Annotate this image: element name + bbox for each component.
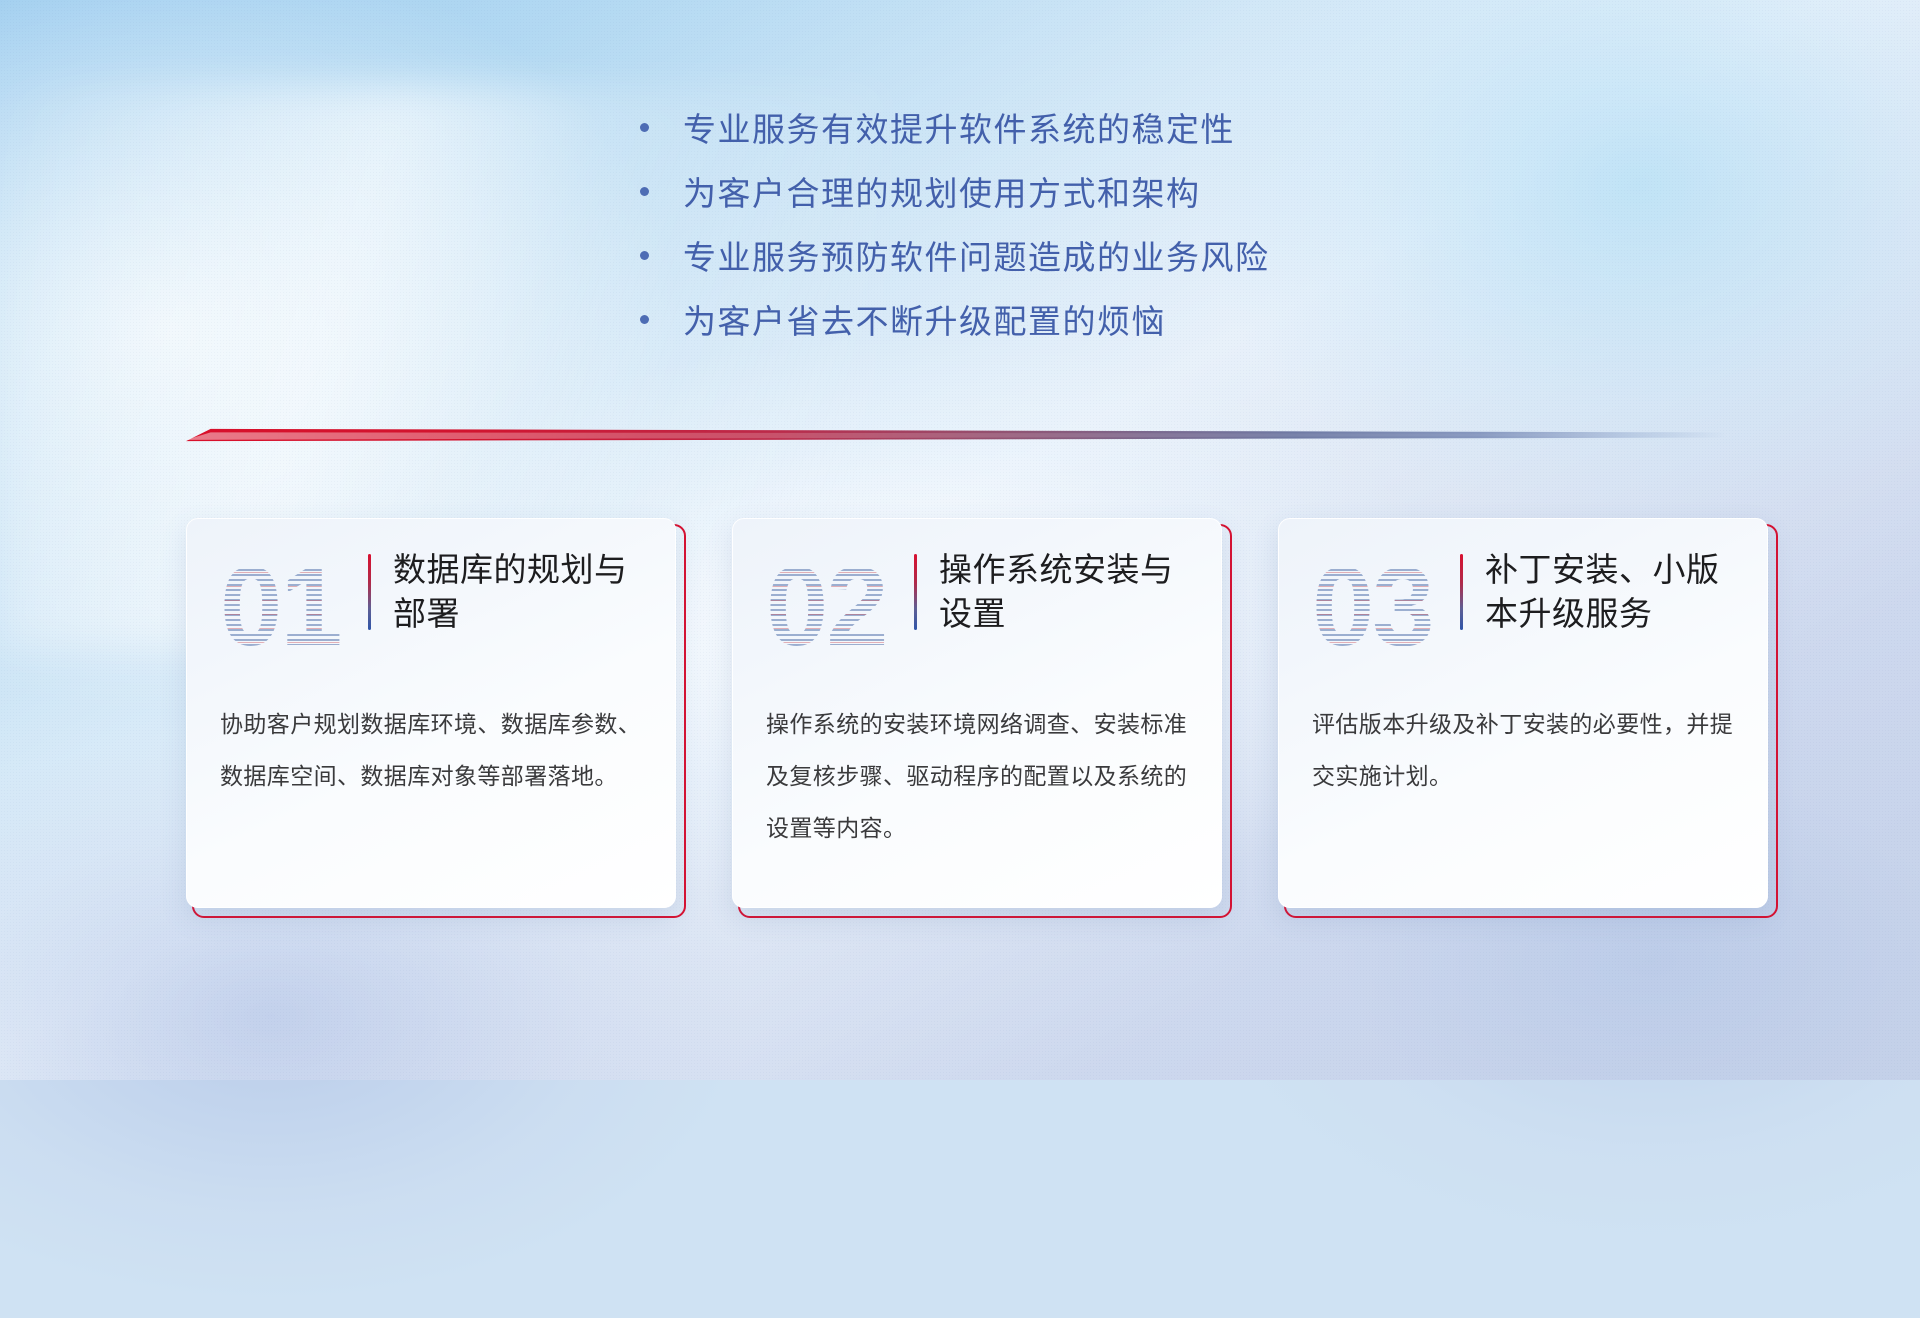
card-number-watermark: 03 03: [1312, 548, 1450, 660]
card-number-red-streaks: 03: [1312, 542, 1433, 671]
bullet-dot-icon: [640, 187, 649, 196]
card-header: 01 01 数据库的规划与部署: [220, 544, 650, 662]
service-card-02[interactable]: 02 02 操作系统安装与设置 操作系统的安装环境网络调查、安装标准及复核步骤、…: [732, 518, 1222, 908]
service-card-03[interactable]: 03 03 补丁安装、小版本升级服务 评估版本升级及补丁安装的必要性，并提交实施…: [1278, 518, 1768, 908]
card-header: 02 02 操作系统安装与设置: [766, 544, 1196, 662]
card-surface: 01 01 数据库的规划与部署 协助客户规划数据库环境、数据库参数、数据库空间、…: [186, 518, 676, 908]
title-accent-bar: [914, 554, 917, 630]
card-body-text: 操作系统的安装环境网络调查、安装标准及复核步骤、驱动程序的配置以及系统的设置等内…: [766, 698, 1188, 854]
benefits-bullet-list: 专业服务有效提升软件系统的稳定性 为客户合理的规划使用方式和架构 专业服务预防软…: [0, 95, 1920, 351]
card-body-text: 评估版本升级及补丁安装的必要性，并提交实施计划。: [1312, 698, 1734, 802]
bullet-dot-icon: [640, 123, 649, 132]
service-card-group: 01 01 数据库的规划与部署 协助客户规划数据库环境、数据库参数、数据库空间、…: [186, 518, 1768, 908]
bullet-dot-icon: [640, 251, 649, 260]
section-divider: [186, 424, 1726, 446]
card-body-text: 协助客户规划数据库环境、数据库参数、数据库空间、数据库对象等部署落地。: [220, 698, 642, 802]
list-item: 为客户省去不断升级配置的烦恼: [610, 287, 1310, 351]
bullet-text: 为客户合理的规划使用方式和架构: [683, 167, 1201, 215]
card-title: 补丁安装、小版本升级服务: [1485, 544, 1742, 636]
card-number-watermark: 01 01: [220, 548, 358, 660]
card-number-watermark: 02 02: [766, 548, 904, 660]
bullet-text: 为客户省去不断升级配置的烦恼: [683, 295, 1166, 343]
card-number-red-streaks: 02: [766, 542, 887, 671]
card-surface: 03 03 补丁安装、小版本升级服务 评估版本升级及补丁安装的必要性，并提交实施…: [1278, 518, 1768, 908]
title-accent-bar: [368, 554, 371, 630]
card-title: 操作系统安装与设置: [939, 544, 1196, 636]
title-accent-bar: [1460, 554, 1463, 630]
list-item: 专业服务预防软件问题造成的业务风险: [610, 223, 1310, 287]
divider-highlight: [186, 424, 1726, 446]
card-title: 数据库的规划与部署: [393, 544, 650, 636]
card-surface: 02 02 操作系统安装与设置 操作系统的安装环境网络调查、安装标准及复核步骤、…: [732, 518, 1222, 908]
list-item: 专业服务有效提升软件系统的稳定性: [610, 95, 1310, 159]
service-card-01[interactable]: 01 01 数据库的规划与部署 协助客户规划数据库环境、数据库参数、数据库空间、…: [186, 518, 676, 908]
card-number-red-streaks: 01: [220, 542, 341, 671]
card-header: 03 03 补丁安装、小版本升级服务: [1312, 544, 1742, 662]
bullet-text: 专业服务预防软件问题造成的业务风险: [683, 231, 1270, 279]
bullet-text: 专业服务有效提升软件系统的稳定性: [683, 103, 1235, 151]
bullet-dot-icon: [640, 315, 649, 324]
list-item: 为客户合理的规划使用方式和架构: [610, 159, 1310, 223]
